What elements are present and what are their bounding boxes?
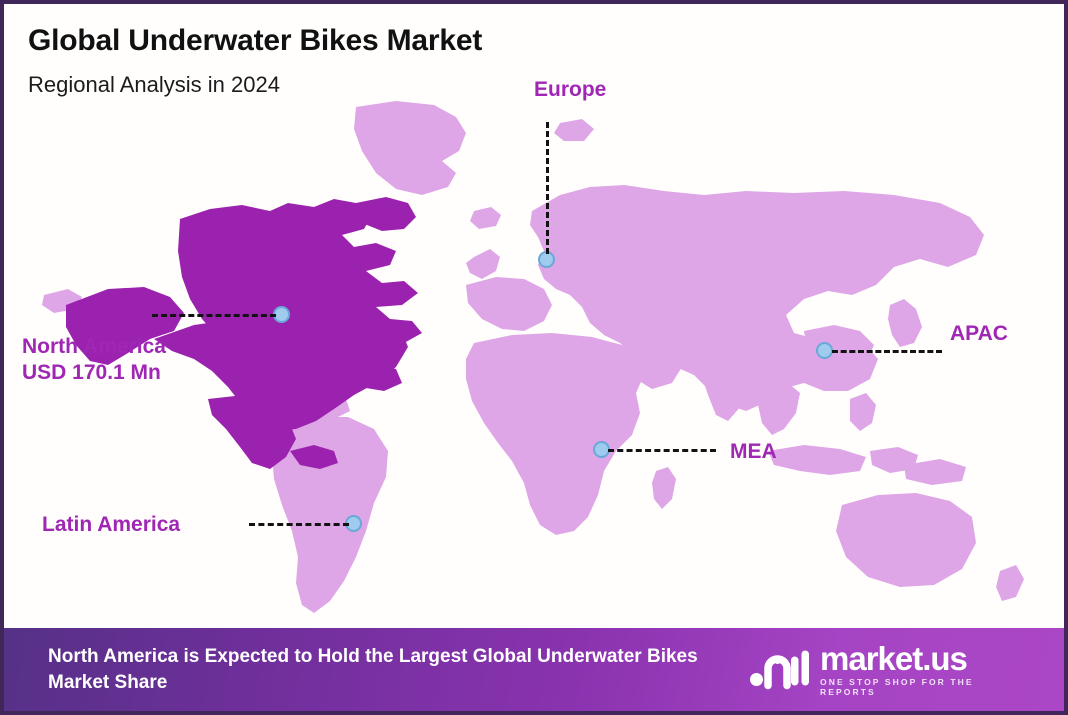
region-name-latin-america: Latin America: [42, 512, 180, 538]
market-us-logo-icon: [748, 648, 810, 692]
region-label-mea: MEA: [730, 439, 777, 465]
region-label-europe: Europe: [534, 77, 606, 103]
region-name-north-america: North America: [22, 334, 166, 360]
map-marker-apac[interactable]: [816, 342, 833, 359]
connector-apac: [832, 350, 942, 353]
connector-europe: [546, 122, 549, 254]
connector-mea: [608, 449, 716, 452]
footer-callout: North America is Expected to Hold the La…: [48, 644, 748, 696]
connector-north-america: [152, 314, 276, 317]
region-name-europe: Europe: [534, 77, 606, 103]
logo-wordmark: market.us: [820, 643, 1030, 675]
footer-banner: North America is Expected to Hold the La…: [4, 628, 1064, 711]
logo-tagline: ONE STOP SHOP FOR THE REPORTS: [820, 677, 1030, 697]
logo-text-block: market.us ONE STOP SHOP FOR THE REPORTS: [820, 643, 1030, 697]
region-label-north-america: North America USD 170.1 Mn: [22, 334, 166, 386]
connector-latin-america: [249, 523, 349, 526]
region-name-apac: APAC: [950, 321, 1008, 347]
region-label-apac: APAC: [950, 321, 1008, 347]
region-label-latin-america: Latin America: [42, 512, 180, 538]
page-title: Global Underwater Bikes Market: [28, 24, 482, 58]
infographic-canvas: Global Underwater Bikes Market Regional …: [0, 0, 1068, 715]
region-value-north-america: USD 170.1 Mn: [22, 360, 166, 386]
page-subtitle: Regional Analysis in 2024: [28, 72, 280, 98]
region-name-mea: MEA: [730, 439, 777, 465]
brand-logo[interactable]: market.us ONE STOP SHOP FOR THE REPORTS: [748, 643, 1030, 697]
